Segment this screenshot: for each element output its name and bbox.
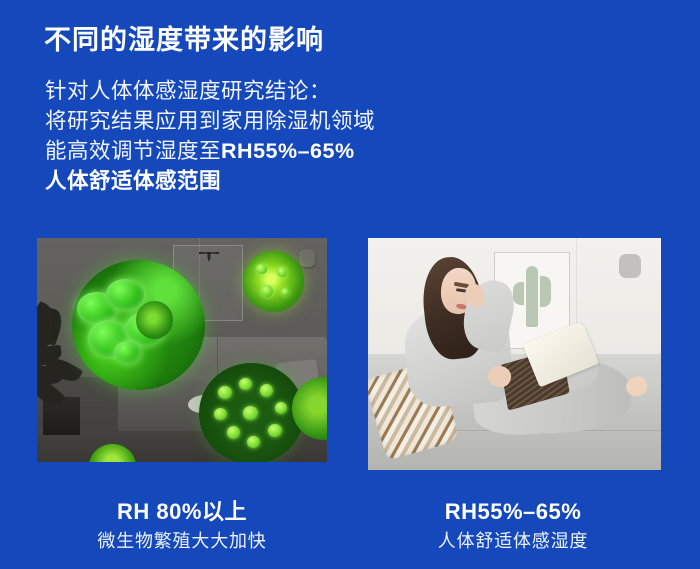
intro-line-2: 将研究结果应用到家用除湿机领域 bbox=[45, 106, 465, 136]
bright-room-scene bbox=[368, 238, 661, 470]
caption-title-high: RH 80%以上 bbox=[37, 498, 327, 526]
caption-title-comfort: RH55%–65% bbox=[368, 498, 658, 526]
page-title: 不同的湿度带来的影响 bbox=[44, 18, 324, 57]
caption-sub-high: 微生物繁殖大大加快 bbox=[37, 528, 327, 554]
microbe-blob-lower-right bbox=[199, 363, 303, 462]
wall-knob-icon bbox=[299, 249, 315, 267]
photo-comfort-humidity bbox=[368, 238, 661, 470]
microbe-blob-upper-right bbox=[243, 251, 304, 311]
microbe-blob-small-mid bbox=[136, 301, 174, 339]
caption-sub-comfort: 人体舒适体感湿度 bbox=[368, 528, 658, 554]
caption-comfort-humidity: RH55%–65% 人体舒适体感湿度 bbox=[368, 498, 658, 554]
intro-line-3: 能高效调节湿度至RH55%–65% bbox=[45, 136, 465, 166]
intro-line-4: 人体舒适体感范围 bbox=[45, 166, 465, 196]
intro-line-3-text: 能高效调节湿度至 bbox=[45, 139, 221, 163]
intro-paragraph: 针对人体体感湿度研究结论： 将研究结果应用到家用除湿机领域 能高效调节湿度至RH… bbox=[45, 76, 465, 196]
intro-line-1: 针对人体体感湿度研究结论： bbox=[45, 76, 465, 106]
caption-high-humidity: RH 80%以上 微生物繁殖大大加快 bbox=[37, 498, 327, 554]
humidity-range-highlight: RH55%–65% bbox=[221, 139, 355, 163]
woman-reading bbox=[368, 238, 661, 470]
photo-high-humidity bbox=[37, 238, 327, 462]
